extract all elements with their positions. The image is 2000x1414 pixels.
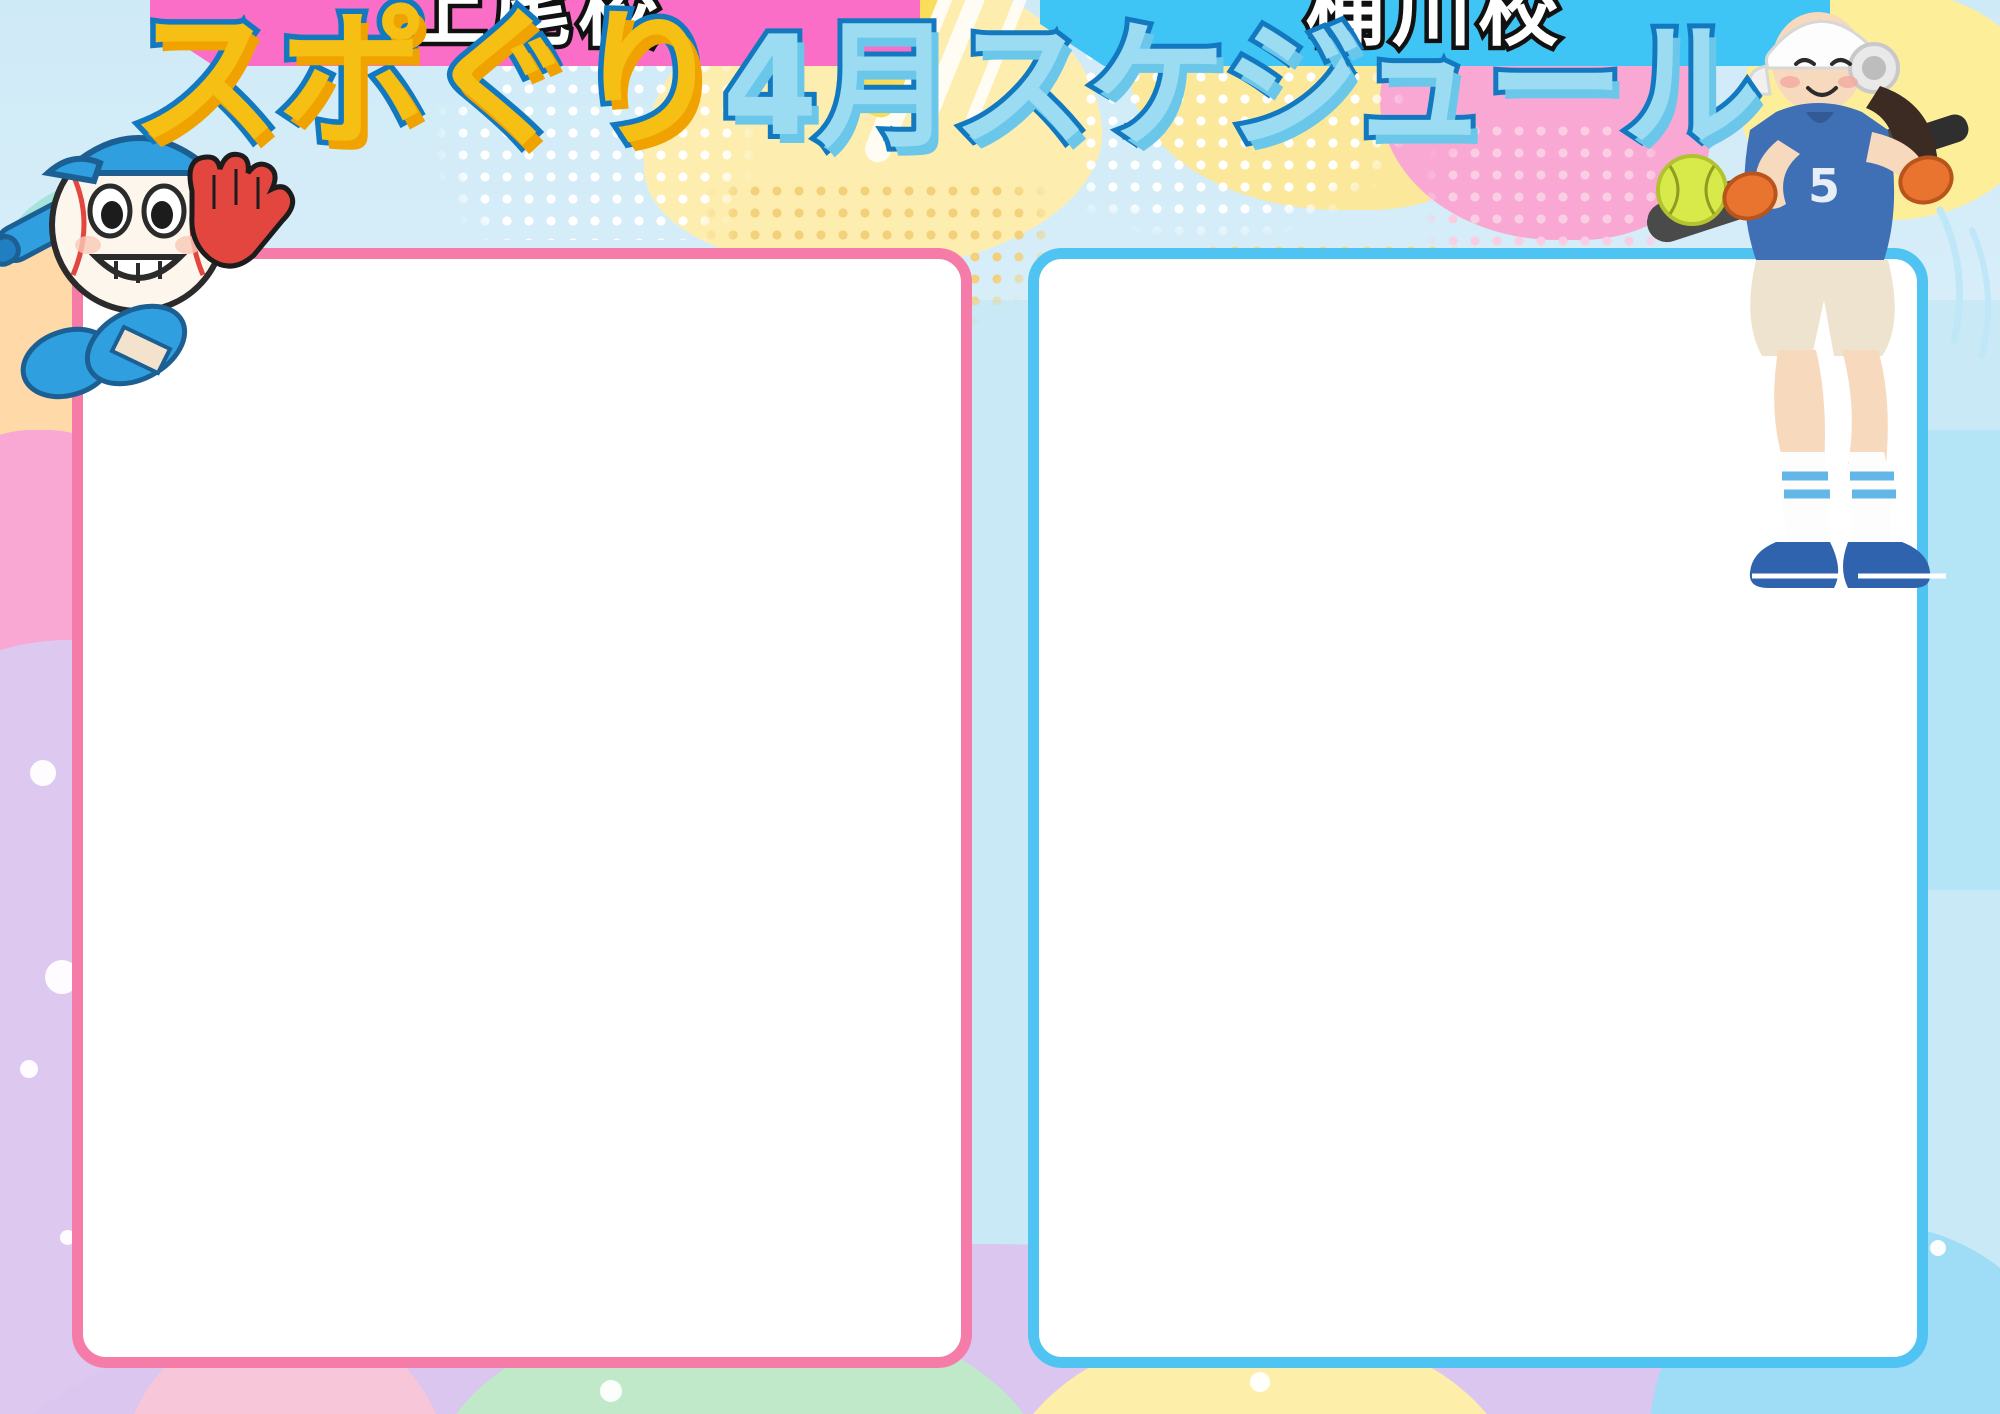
poster-root: スポぐり4月スケジュール	[0, 0, 2000, 1414]
poster-title: スポぐり4月スケジュール	[130, 6, 1890, 186]
title-month-schedule: 4月スケジュール	[722, 18, 1758, 156]
panel-ageo-school	[72, 248, 972, 1368]
title-brand: スポぐり	[130, 6, 722, 156]
